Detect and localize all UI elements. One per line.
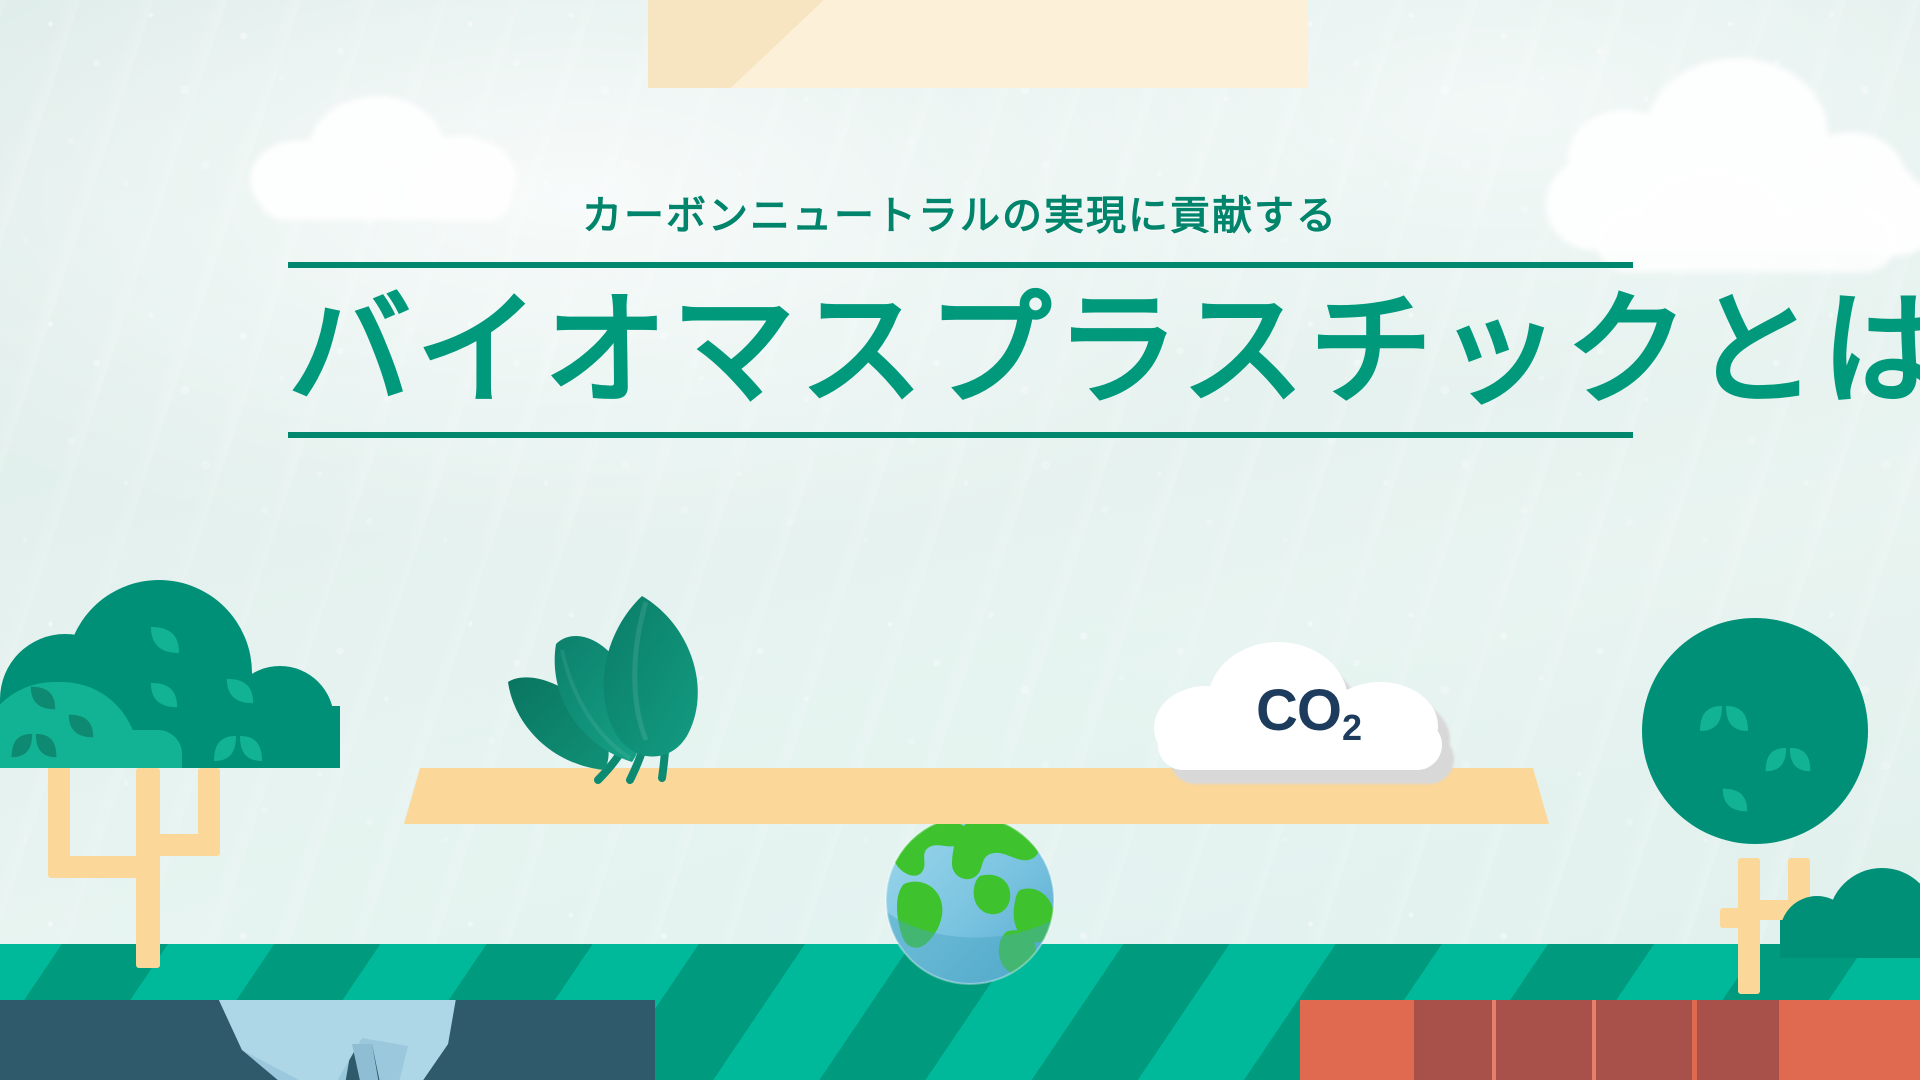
bush-base bbox=[1780, 920, 1920, 958]
top-banner-shade bbox=[648, 0, 828, 88]
city-panel bbox=[1300, 1000, 1920, 1080]
co2-text: CO bbox=[1256, 678, 1341, 743]
slide-title: バイオマスプラスチックとは bbox=[288, 278, 1633, 424]
co2-subscript: 2 bbox=[1342, 707, 1361, 748]
tree-right-canopy bbox=[1642, 618, 1868, 844]
earth-globe bbox=[884, 814, 1056, 986]
glacier-panel bbox=[0, 1000, 655, 1080]
slide-subtitle: カーボンニュートラルの実現に貢献する bbox=[0, 196, 1920, 236]
earth-svg bbox=[884, 814, 1056, 986]
city-block bbox=[1414, 1000, 1492, 1080]
co2-label: CO2 bbox=[1148, 682, 1468, 740]
rule-bottom bbox=[288, 432, 1633, 438]
title-rules: バイオマスプラスチックとは bbox=[288, 262, 1633, 438]
tree-left bbox=[0, 572, 370, 992]
three-leaves-group bbox=[480, 588, 750, 800]
city-block bbox=[1300, 1000, 1410, 1080]
city-block bbox=[1779, 1000, 1920, 1080]
leaf-motif-icon bbox=[28, 684, 58, 712]
leaf-motif-pair-icon bbox=[208, 734, 268, 764]
slide-canvas: カーボンニュートラルの実現に貢献する バイオマスプラスチックとは bbox=[0, 0, 1920, 1080]
bush-right bbox=[1780, 868, 1920, 948]
leaf-motif-icon bbox=[148, 680, 180, 710]
leaf-motif-icon bbox=[1720, 786, 1750, 814]
leaf-motif-icon bbox=[66, 712, 96, 740]
leaf-motif-pair-icon bbox=[1760, 746, 1816, 774]
leaf-motif-pair-icon bbox=[1694, 704, 1754, 734]
rule-top bbox=[288, 262, 1633, 268]
iceberg-icon bbox=[212, 1000, 462, 1080]
tree-left-branch-left-arm bbox=[48, 856, 158, 878]
headline-group: カーボンニュートラルの実現に貢献する バイオマスプラスチックとは bbox=[0, 196, 1920, 438]
city-block bbox=[1496, 1000, 1592, 1080]
leaves-svg bbox=[480, 588, 750, 800]
city-block bbox=[1697, 1000, 1779, 1080]
top-cream-banner bbox=[648, 0, 1308, 88]
co2-cloud-group: CO2 bbox=[1148, 638, 1468, 790]
leaf-motif-pair-icon bbox=[6, 732, 62, 760]
tree-left-branch-right-arm bbox=[138, 834, 220, 856]
city-block bbox=[1596, 1000, 1692, 1080]
leaf-motif-icon bbox=[148, 624, 182, 656]
leaf-motif-icon bbox=[224, 676, 256, 706]
tree-right-branch-arm-left bbox=[1720, 908, 1760, 928]
